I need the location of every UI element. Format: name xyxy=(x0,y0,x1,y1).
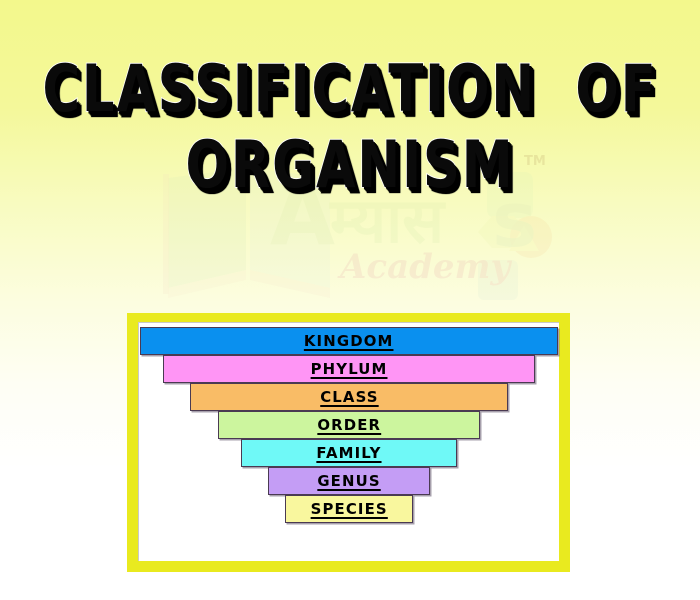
taxonomy-tier-label: SPECIES xyxy=(310,500,387,518)
taxonomy-tier-label: GENUS xyxy=(317,472,380,490)
taxonomy-tier-kingdom[interactable]: KINGDOM xyxy=(140,327,558,355)
title-line-1: CLASSIFICATION OF xyxy=(25,52,676,125)
poster-canvas: TM A म्यास s Academy CLASSIFICATION OF O… xyxy=(0,0,700,600)
taxonomy-tier-family[interactable]: FAMILY xyxy=(241,439,457,467)
taxonomy-tier-genus[interactable]: GENUS xyxy=(268,467,430,495)
taxonomy-tier-order[interactable]: ORDER xyxy=(218,411,480,439)
taxonomy-tier-class[interactable]: CLASS xyxy=(190,383,508,411)
taxonomy-tier-label: PHYLUM xyxy=(311,360,388,378)
taxonomy-diagram: KINGDOMPHYLUMCLASSORDERFAMILYGENUSSPECIE… xyxy=(138,322,559,561)
taxonomy-tier-label: KINGDOM xyxy=(304,332,394,350)
taxonomy-tier-label: CLASS xyxy=(320,388,378,406)
page-title: CLASSIFICATION OF ORGANISM xyxy=(0,52,700,190)
taxonomy-tier-species[interactable]: SPECIES xyxy=(285,495,413,523)
taxonomy-tier-label: FAMILY xyxy=(316,444,381,462)
title-line-2: ORGANISM xyxy=(25,128,676,201)
taxonomy-diagram-frame: KINGDOMPHYLUMCLASSORDERFAMILYGENUSSPECIE… xyxy=(127,313,570,572)
logo-script-text: Academy xyxy=(337,247,512,287)
taxonomy-tier-label: ORDER xyxy=(317,416,381,434)
taxonomy-tier-phylum[interactable]: PHYLUM xyxy=(163,355,535,383)
